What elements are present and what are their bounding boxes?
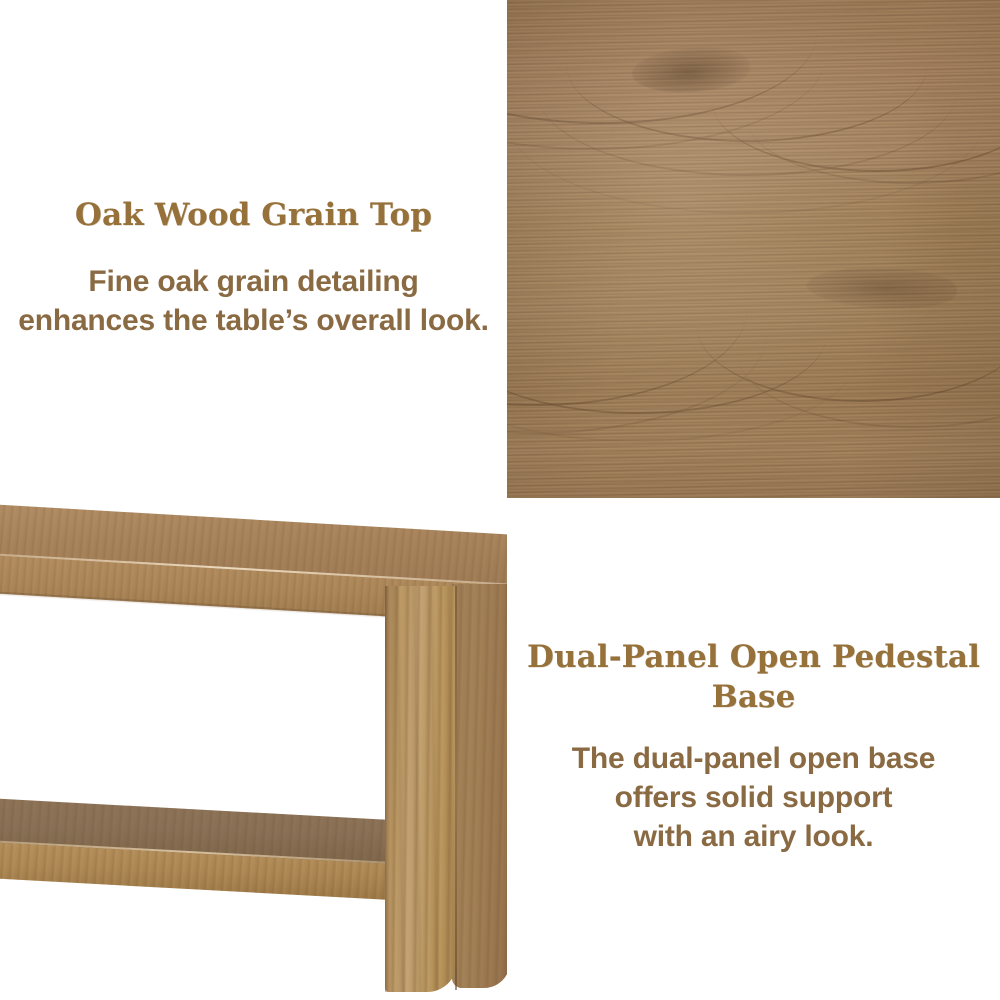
feature-heading-oak-wood-grain-top: Oak Wood Grain Top <box>10 196 497 236</box>
pedestal-panel-corner-edge <box>455 586 457 990</box>
pedestal-panel-front-face <box>385 586 457 992</box>
wood-grain-texture <box>452 584 507 988</box>
feature-text-panel-pedestal-base: Dual-Panel Open Pedestal Base The dual-p… <box>507 498 1000 1000</box>
feature-body-dual-panel-open-pedestal-base: The dual-panel open base offers solid su… <box>517 739 990 856</box>
feature-text-block: Oak Wood Grain Top Fine oak grain detail… <box>0 196 507 340</box>
feature-body-line: Fine oak grain detailing <box>10 262 497 301</box>
feature-text-panel-oak-top: Oak Wood Grain Top Fine oak grain detail… <box>0 0 507 498</box>
feature-body-line: offers solid support <box>517 778 990 817</box>
wood-surface-sheen <box>507 0 1000 498</box>
feature-body-line: with an airy look. <box>517 817 990 856</box>
pedestal-panel-side-face <box>452 584 507 988</box>
oak-grain-image-surface <box>507 0 1000 498</box>
feature-heading-dual-panel-open-pedestal-base: Dual-Panel Open Pedestal Base <box>517 638 990 717</box>
pedestal-panel-inner-shadow <box>385 586 390 992</box>
table-base-image-surface <box>0 498 507 1000</box>
feature-text-block: Dual-Panel Open Pedestal Base The dual-p… <box>507 638 1000 856</box>
feature-body-line: The dual-panel open base <box>517 739 990 778</box>
wood-grain-texture <box>385 586 457 992</box>
feature-body-oak-wood-grain-top: Fine oak grain detailing enhances the ta… <box>10 262 497 340</box>
table-pedestal-base-photo <box>0 498 507 1000</box>
feature-heading-line: Dual-Panel <box>527 639 719 675</box>
oak-grain-closeup-photo <box>507 0 1000 498</box>
feature-body-line: enhances the table’s overall look. <box>10 301 497 340</box>
product-feature-infographic: Oak Wood Grain Top Fine oak grain detail… <box>0 0 1000 1000</box>
feature-heading-line: Open Pedestal Base <box>712 639 980 715</box>
